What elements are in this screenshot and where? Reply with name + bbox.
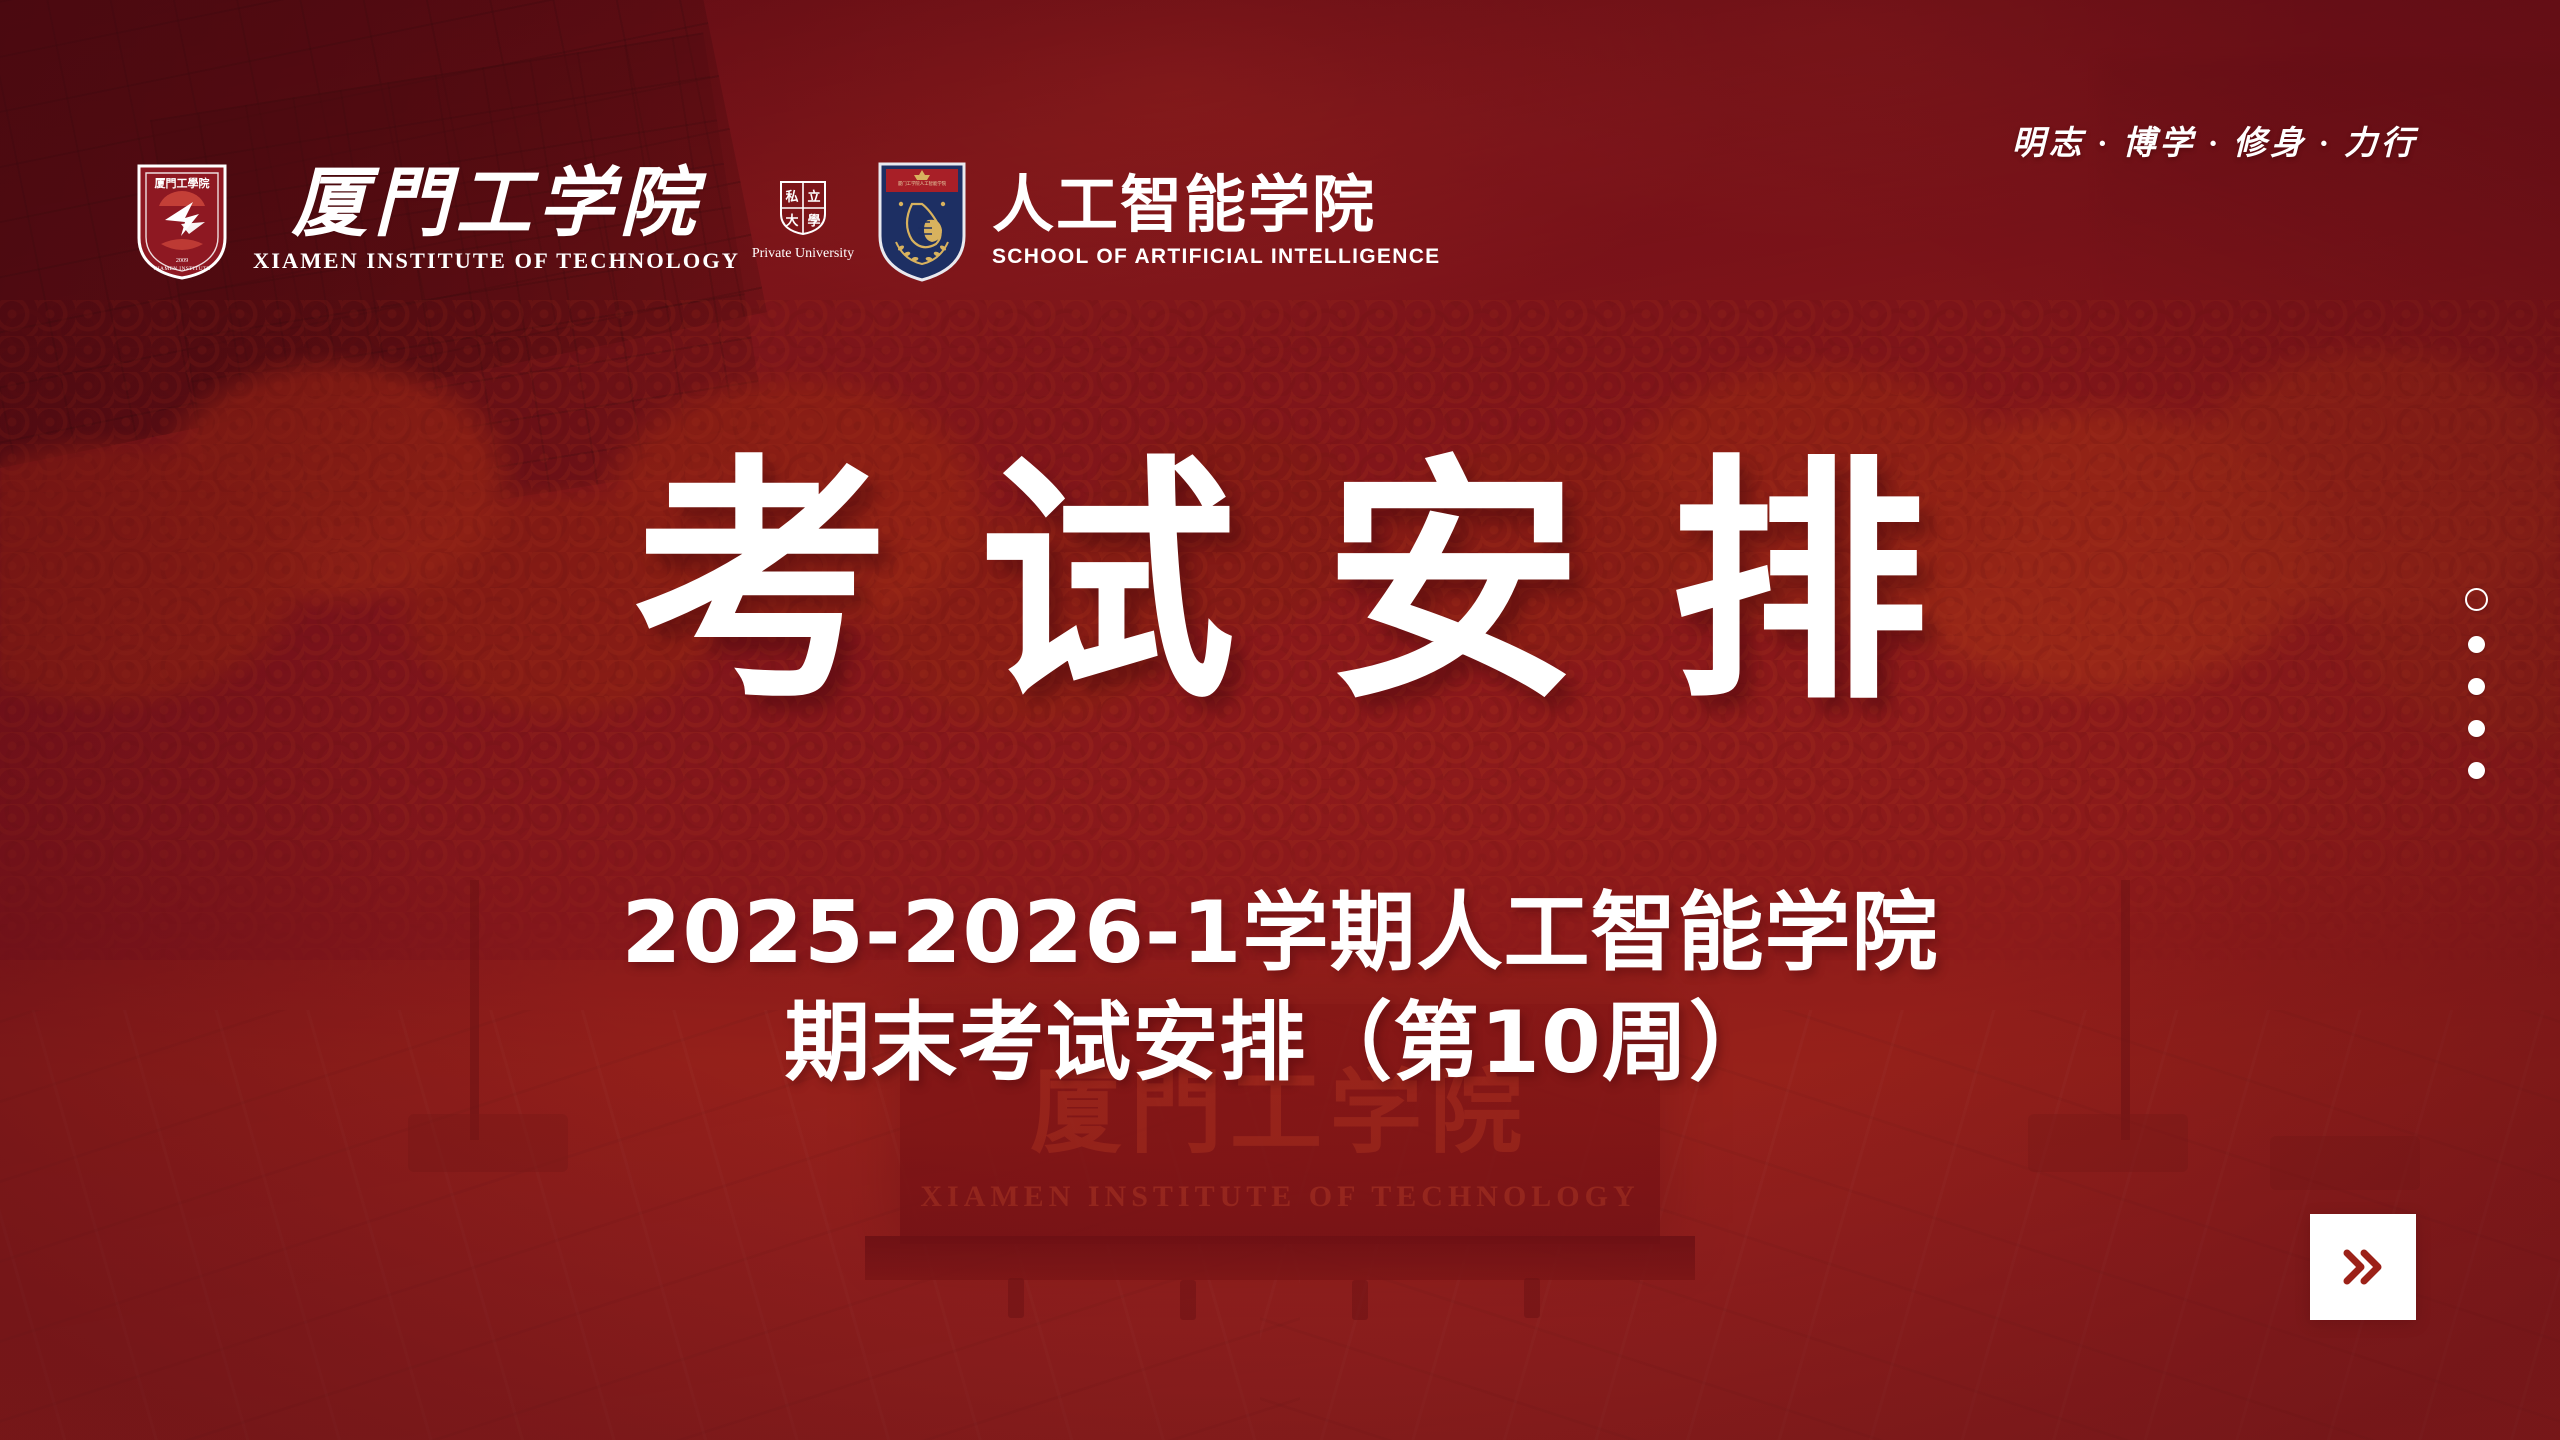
subtitle-line-1: 2025-2026-1学期人工智能学院 [0, 878, 2560, 988]
next-page-button[interactable] [2310, 1214, 2416, 1320]
page-title: 考试安排 [0, 455, 2560, 713]
school-name-cn: 人工智能学院 [992, 174, 1441, 236]
private-university-badge: 私 立 大 學 Private University [760, 180, 846, 262]
slide-content: 厦門工學院 2009 XIAMEN INSTITUTE 厦門工学院 XIAMEN… [0, 0, 2560, 1440]
subtitle-line-2: 期末考试安排（第10周） [0, 988, 2560, 1098]
pagination-dot-4[interactable] [2468, 720, 2485, 737]
university-wordmark: 厦門工学院 XIAMEN INSTITUTE OF TECHNOLOGY [253, 168, 740, 274]
university-name-en: XIAMEN INSTITUTE OF TECHNOLOGY [253, 248, 740, 274]
svg-text:大: 大 [785, 213, 798, 228]
page-subtitle: 2025-2026-1学期人工智能学院 期末考试安排（第10周） [0, 878, 2560, 1098]
university-motto: 明志 · 博学 · 修身 · 力行 [2012, 116, 2418, 164]
school-wordmark: 人工智能学院 SCHOOL OF ARTIFICIAL INTELLIGENCE [992, 174, 1441, 269]
private-university-label: Private University [752, 246, 854, 262]
pagination-dot-5[interactable] [2468, 762, 2485, 779]
svg-text:2009: 2009 [176, 257, 188, 264]
private-university-shield-icon: 私 立 大 學 [779, 180, 827, 241]
svg-text:學: 學 [807, 213, 820, 228]
school-name-en: SCHOOL OF ARTIFICIAL INTELLIGENCE [992, 245, 1441, 269]
pagination-dots[interactable] [2465, 588, 2488, 779]
logo-lockup: 厦門工學院 2009 XIAMEN INSTITUTE 厦門工学院 XIAMEN… [135, 158, 1440, 284]
svg-text:立: 立 [807, 189, 820, 204]
presentation-slide: 厦門工学院 XIAMEN INSTITUTE OF TECHNOLOGY 厦門工… [0, 0, 2560, 1440]
pagination-dot-3[interactable] [2468, 678, 2485, 695]
svg-text:厦门工学院人工智能学院: 厦门工学院人工智能学院 [898, 180, 947, 187]
pagination-dot-1[interactable] [2465, 588, 2488, 611]
svg-text:XIAMEN INSTITUTE: XIAMEN INSTITUTE [154, 266, 211, 272]
school-of-artificial-intelligence-shield-icon: 厦门工学院人工智能学院 [874, 158, 970, 284]
xiamen-institute-of-technology-shield-icon: 厦門工學院 2009 XIAMEN INSTITUTE [135, 162, 229, 280]
pagination-dot-2[interactable] [2468, 636, 2485, 653]
double-chevron-right-icon [2340, 1245, 2386, 1289]
svg-text:私: 私 [785, 189, 798, 204]
university-name-cn: 厦門工学院 [291, 168, 701, 240]
svg-text:厦門工學院: 厦門工學院 [155, 176, 210, 190]
